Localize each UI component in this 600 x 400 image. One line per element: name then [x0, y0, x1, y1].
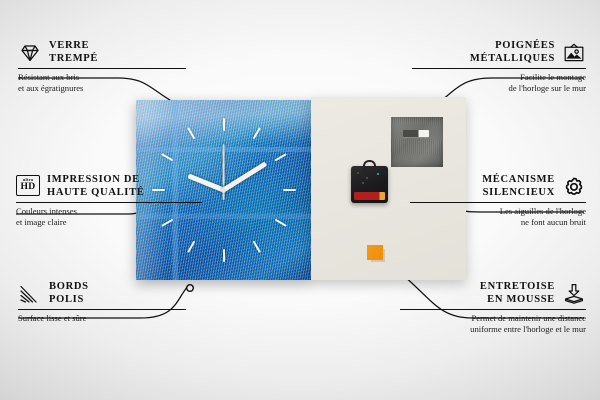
callout-mecanisme-silencieux: MÉCANISMESILENCIEUX Les aiguilles de l'h…	[388, 174, 586, 227]
callout-poignees-metalliques: POIGNÉESMÉTALLIQUES Facilite le montaged…	[390, 40, 586, 93]
callout-bords-polis: BORDSPOLIS Surface lisse et sûre	[18, 281, 208, 324]
clock-minute-hand	[222, 161, 267, 192]
battery	[354, 192, 385, 200]
callout-description: Facilite le montagede l'horloge sur le m…	[390, 72, 586, 93]
callout-header: ultra HD IMPRESSION DEHAUTE QUALITÉ	[16, 174, 216, 199]
metal-hanger-plate	[391, 117, 443, 167]
infographic-stage: VERRETREMPÉ Résistant aux briset aux égr…	[0, 0, 600, 400]
callout-rule	[18, 309, 186, 310]
callout-verre-trempe: VERRETREMPÉ Résistant aux briset aux égr…	[18, 40, 208, 93]
ultra-hd-icon: ultra HD	[16, 175, 40, 199]
movement-hanging-loop	[363, 160, 376, 169]
callout-title: IMPRESSION DEHAUTE QUALITÉ	[47, 174, 145, 199]
clock-center-pin	[221, 188, 226, 193]
callout-title: BORDSPOLIS	[49, 281, 89, 306]
callout-title: MÉCANISMESILENCIEUX	[482, 174, 555, 199]
foam-spacer-icon	[562, 282, 586, 306]
callout-header: ENTRETOISEEN MOUSSE	[380, 281, 586, 306]
callout-entretoise-en-mousse: ENTRETOISEEN MOUSSE Permet de maintenir …	[380, 281, 586, 334]
callout-title: ENTRETOISEEN MOUSSE	[480, 281, 555, 306]
callout-title: POIGNÉESMÉTALLIQUES	[470, 40, 555, 65]
callout-rule	[412, 68, 586, 69]
picture-hanger-icon	[562, 41, 586, 65]
diamond-icon	[18, 41, 42, 65]
callout-title: VERRETREMPÉ	[49, 40, 98, 65]
callout-description: Résistant aux briset aux égratignures	[18, 72, 208, 93]
ultra-hd-large-text: HD	[21, 182, 36, 192]
clock-second-hand	[223, 144, 225, 200]
callout-header: POIGNÉESMÉTALLIQUES	[390, 40, 586, 65]
foam-spacer	[367, 245, 383, 260]
callout-description: Surface lisse et sûre	[18, 313, 208, 324]
callout-description: Couleurs intenseset image claire	[16, 206, 216, 227]
callout-header: BORDSPOLIS	[18, 281, 208, 306]
callout-rule	[400, 309, 586, 310]
callout-description: Permet de maintenir une distanceuniforme…	[380, 313, 586, 334]
hanger-slot	[403, 130, 429, 137]
callout-rule	[16, 202, 202, 203]
callout-header: MÉCANISMESILENCIEUX	[388, 174, 586, 199]
callout-rule	[18, 68, 186, 69]
callout-rule	[410, 202, 586, 203]
movement-details	[354, 170, 385, 186]
callout-description: Les aiguilles de l'horlogene font aucun …	[388, 206, 586, 227]
callout-header: VERRETREMPÉ	[18, 40, 208, 65]
clock-movement	[351, 166, 388, 203]
callout-impression-haute-qualite: ultra HD IMPRESSION DEHAUTE QUALITÉ Coul…	[16, 174, 216, 227]
polished-edges-icon	[18, 282, 42, 306]
gear-icon	[562, 175, 586, 199]
